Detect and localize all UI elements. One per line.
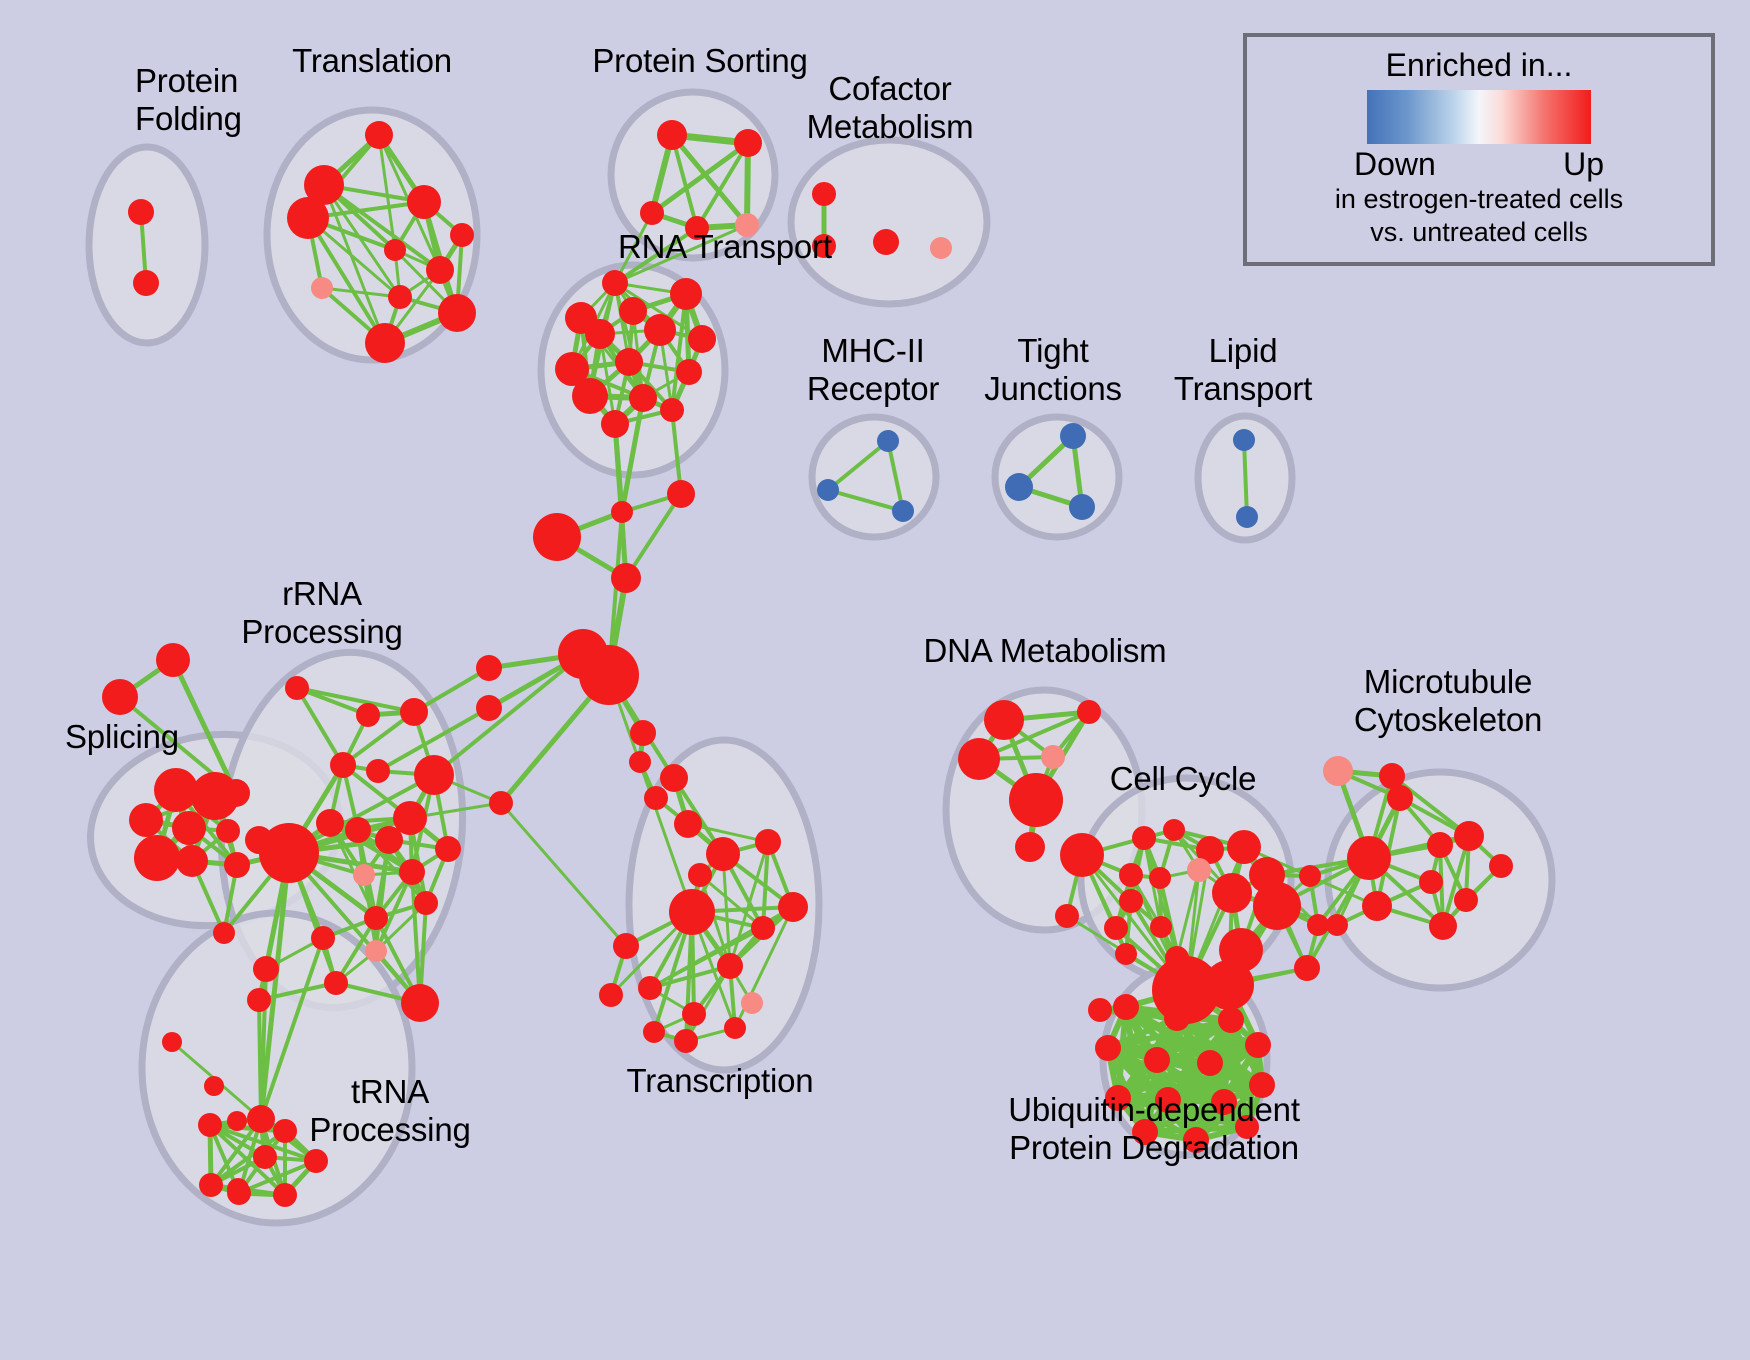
node-microtubule_cytoskeleton-6[interactable] <box>1419 870 1443 894</box>
node-bridge-b2[interactable] <box>533 513 581 561</box>
node-ubiquitin_protein_degradation-14[interactable] <box>1088 998 1112 1022</box>
node-cofactor_metabolism-2[interactable] <box>873 229 899 255</box>
node-cell_cycle-13[interactable] <box>1150 916 1172 938</box>
node-lipid_transport-1[interactable] <box>1236 506 1258 528</box>
node-protein_folding-1[interactable] <box>133 270 159 296</box>
node-rrna_processing-21[interactable] <box>401 984 439 1022</box>
node-cell_cycle-6[interactable] <box>1149 867 1171 889</box>
node-tight_junctions-2[interactable] <box>1069 494 1095 520</box>
node-rna_transport-0[interactable] <box>602 270 628 296</box>
node-cell_cycle-15[interactable] <box>1115 943 1137 965</box>
node-bridge-b0[interactable] <box>611 501 633 523</box>
node-mhcii_receptor-0[interactable] <box>877 430 899 452</box>
node-trna_processing-6[interactable] <box>273 1183 297 1207</box>
node-rrna_processing-4[interactable] <box>330 752 356 778</box>
node-microtubule_cytoskeleton-2[interactable] <box>1379 763 1405 789</box>
node-cell_cycle-21[interactable] <box>1307 914 1329 936</box>
node-rrna_processing-12[interactable] <box>435 836 461 862</box>
node-transcription-9[interactable] <box>682 1002 706 1026</box>
node-bridge-b1[interactable] <box>667 480 695 508</box>
node-transcription-15[interactable] <box>599 983 623 1007</box>
node-tight_junctions-0[interactable] <box>1060 423 1086 449</box>
node-microtubule_cytoskeleton-9[interactable] <box>1429 912 1457 940</box>
node-rna_transport-5[interactable] <box>644 314 676 346</box>
node-splicing-0[interactable] <box>156 643 190 677</box>
node-ubiquitin_protein_degradation-1[interactable] <box>1164 1005 1190 1031</box>
cluster-label-transcription: Transcription <box>627 1062 814 1100</box>
cluster-label-cofactor_metabolism: Cofactor Metabolism <box>807 70 974 146</box>
node-transcription-7[interactable] <box>638 976 662 1000</box>
node-splicing-7[interactable] <box>216 819 240 843</box>
node-cell_cycle-1[interactable] <box>1132 826 1156 850</box>
node-rna_transport-8[interactable] <box>615 348 643 376</box>
node-transcription-14[interactable] <box>741 992 763 1014</box>
node-translation-0[interactable] <box>365 121 393 149</box>
node-transcription-13[interactable] <box>674 1029 698 1053</box>
node-splicing-1[interactable] <box>102 679 138 715</box>
node-transcription-16[interactable] <box>643 1021 665 1043</box>
node-translation-8[interactable] <box>388 285 412 309</box>
legend-endpoints: Down Up <box>1354 146 1604 183</box>
node-dna_metabolism-5[interactable] <box>1015 832 1045 862</box>
legend-subtitle-line1: in estrogen-treated cells <box>1335 183 1623 216</box>
node-rna_transport-10[interactable] <box>572 378 608 414</box>
cluster-label-tight_junctions: Tight Junctions <box>984 332 1122 408</box>
node-tight_junctions-1[interactable] <box>1005 473 1033 501</box>
legend-high-label: Up <box>1563 146 1604 183</box>
node-protein_sorting-0[interactable] <box>657 120 687 150</box>
node-splicing-6[interactable] <box>172 811 206 845</box>
node-microtubule_cytoskeleton-10[interactable] <box>1489 854 1513 878</box>
node-trna_processing-1[interactable] <box>162 1032 182 1052</box>
cluster-label-rrna_processing: rRNA Processing <box>241 575 402 651</box>
node-translation-10[interactable] <box>365 323 405 363</box>
node-rrna_processing-19[interactable] <box>253 956 279 982</box>
cluster-label-mhcii_receptor: MHC-II Receptor <box>807 332 939 408</box>
cluster-label-dna_metabolism: DNA Metabolism <box>924 632 1167 670</box>
node-cell_cycle-2[interactable] <box>1163 819 1185 841</box>
node-ubiquitin_protein_degradation-2[interactable] <box>1218 1007 1244 1033</box>
node-cell_cycle-22[interactable] <box>1294 955 1320 981</box>
node-mhcii_receptor-2[interactable] <box>892 500 914 522</box>
node-cofactor_metabolism-3[interactable] <box>930 237 952 259</box>
node-translation-7[interactable] <box>311 277 333 299</box>
node-trna_processing-5[interactable] <box>227 1181 251 1205</box>
node-ubiquitin_protein_degradation-6[interactable] <box>1245 1032 1271 1058</box>
node-bridge-b7[interactable] <box>476 655 502 681</box>
cluster-label-ubiquitin_protein_degradation: Ubiquitin-dependent Protein Degradation <box>1008 1091 1300 1167</box>
node-translation-9[interactable] <box>438 294 476 332</box>
node-dna_metabolism-4[interactable] <box>1009 773 1063 827</box>
node-transcription-3[interactable] <box>706 837 740 871</box>
cluster-label-rna_transport: RNA Transport <box>618 228 832 266</box>
node-transcription-1[interactable] <box>674 810 702 838</box>
node-trna_processing-4[interactable] <box>227 1111 247 1131</box>
node-bridge-b6[interactable] <box>630 720 656 746</box>
node-splicing-9[interactable] <box>176 845 208 877</box>
node-cell_cycle-12[interactable] <box>1104 916 1128 940</box>
node-transcription-8[interactable] <box>717 953 743 979</box>
node-rrna_processing-8[interactable] <box>316 809 344 837</box>
node-trna_processing-8[interactable] <box>273 1119 297 1143</box>
node-rrna_processing-5[interactable] <box>414 755 454 795</box>
edge-bridge <box>434 654 583 775</box>
node-splicing-5[interactable] <box>129 803 163 837</box>
node-trna_processing-7[interactable] <box>198 1113 222 1137</box>
node-dna_metabolism-0[interactable] <box>984 700 1024 740</box>
node-rrna_processing-14[interactable] <box>399 859 425 885</box>
node-dna_metabolism-1[interactable] <box>1077 700 1101 724</box>
node-rrna_processing-17[interactable] <box>311 926 335 950</box>
node-rrna_processing-7[interactable] <box>259 823 319 883</box>
node-ubiquitin_protein_degradation-5[interactable] <box>1197 1050 1223 1076</box>
node-bridge-b9[interactable] <box>489 791 513 815</box>
node-transcription-11[interactable] <box>669 889 715 935</box>
cluster-label-protein_folding: Protein Folding <box>135 62 242 138</box>
legend-box: Enriched in... Down Up in estrogen-treat… <box>1243 33 1715 266</box>
node-ubiquitin_protein_degradation-4[interactable] <box>1144 1047 1170 1073</box>
node-rrna_processing-0[interactable] <box>285 676 309 700</box>
node-splicing-11[interactable] <box>213 922 235 944</box>
node-microtubule_cytoskeleton-11[interactable] <box>1326 914 1348 936</box>
node-translation-3[interactable] <box>287 197 329 239</box>
node-splicing-8[interactable] <box>134 835 180 881</box>
node-cell_cycle-5[interactable] <box>1119 863 1143 887</box>
node-transcription-2[interactable] <box>688 863 712 887</box>
node-cell_cycle-14[interactable] <box>1055 904 1079 928</box>
node-splicing-3[interactable] <box>154 768 198 812</box>
cluster-label-cell_cycle: Cell Cycle <box>1110 760 1257 798</box>
node-rna_transport-13[interactable] <box>601 410 629 438</box>
node-microtubule_cytoskeleton-8[interactable] <box>1454 888 1478 912</box>
cluster-label-microtubule_cytoskeleton: Microtubule Cytoskeleton <box>1354 663 1542 739</box>
node-cofactor_metabolism-0[interactable] <box>812 182 836 206</box>
cluster-label-translation: Translation <box>292 42 452 80</box>
node-bridge-b10[interactable] <box>629 751 651 773</box>
node-cell_cycle-4[interactable] <box>1227 830 1261 864</box>
node-trna_processing-3[interactable] <box>204 1076 224 1096</box>
node-rrna_processing-18[interactable] <box>365 940 387 962</box>
node-trna_processing-10[interactable] <box>304 1149 328 1173</box>
node-ubiquitin_protein_degradation-0[interactable] <box>1113 994 1139 1020</box>
node-rna_transport-3[interactable] <box>619 297 647 325</box>
node-cell_cycle-10[interactable] <box>1212 873 1252 913</box>
cluster-label-trna_processing: tRNA Processing <box>309 1073 470 1149</box>
node-rna_transport-1[interactable] <box>670 278 702 310</box>
cluster-ellipse-protein_folding <box>89 147 205 343</box>
enrichment-network-figure: Protein FoldingTranslationProtein Sortin… <box>0 0 1750 1360</box>
node-transcription-6[interactable] <box>778 892 808 922</box>
node-ubiquitin_protein_degradation-3[interactable] <box>1095 1035 1121 1061</box>
legend-title: Enriched in... <box>1386 47 1573 84</box>
node-microtubule_cytoskeleton-4[interactable] <box>1427 832 1453 858</box>
node-mhcii_receptor-1[interactable] <box>817 479 839 501</box>
node-trna_processing-11[interactable] <box>253 1145 277 1169</box>
node-splicing-10[interactable] <box>224 852 250 878</box>
node-microtubule_cytoskeleton-7[interactable] <box>1362 891 1392 921</box>
node-protein_sorting-1[interactable] <box>734 129 762 157</box>
cluster-label-lipid_transport: Lipid Transport <box>1174 332 1312 408</box>
node-transcription-5[interactable] <box>751 916 775 940</box>
node-microtubule_cytoskeleton-0[interactable] <box>1323 756 1353 786</box>
node-rrna_processing-11[interactable] <box>393 801 427 835</box>
node-bridge-b11[interactable] <box>644 786 668 810</box>
node-microtubule_cytoskeleton-3[interactable] <box>1347 836 1391 880</box>
node-protein_folding-0[interactable] <box>128 199 154 225</box>
cluster-ellipse-mhcii_receptor <box>812 417 936 537</box>
node-rrna_processing-9[interactable] <box>345 817 371 843</box>
node-splicing-4[interactable] <box>191 772 239 820</box>
node-trna_processing-0[interactable] <box>247 1105 275 1133</box>
node-transcription-10[interactable] <box>724 1017 746 1039</box>
node-lipid_transport-0[interactable] <box>1233 429 1255 451</box>
node-cell_cycle-19[interactable] <box>1204 960 1254 1010</box>
node-cell_cycle-0[interactable] <box>1060 833 1104 877</box>
node-rna_transport-6[interactable] <box>688 325 716 353</box>
node-cell_cycle-9[interactable] <box>1119 889 1143 913</box>
node-rrna_processing-15[interactable] <box>414 891 438 915</box>
node-dna_metabolism-2[interactable] <box>958 738 1000 780</box>
node-rrna_processing-16[interactable] <box>364 906 388 930</box>
node-transcription-0[interactable] <box>660 764 688 792</box>
node-cell_cycle-20[interactable] <box>1299 865 1321 887</box>
node-protein_sorting-2[interactable] <box>640 201 664 225</box>
node-trna_processing-9[interactable] <box>199 1173 223 1197</box>
node-rrna_processing-22[interactable] <box>247 988 271 1012</box>
cluster-label-protein_sorting: Protein Sorting <box>592 42 807 80</box>
node-rrna_processing-3[interactable] <box>366 759 390 783</box>
edge-bridge <box>501 803 626 946</box>
node-microtubule_cytoskeleton-5[interactable] <box>1454 821 1484 851</box>
legend-low-label: Down <box>1354 146 1436 183</box>
node-translation-6[interactable] <box>426 256 454 284</box>
legend-color-bar <box>1367 90 1591 144</box>
node-rna_transport-11[interactable] <box>629 384 657 412</box>
node-cell_cycle-11[interactable] <box>1253 882 1301 930</box>
node-rna_transport-12[interactable] <box>660 398 684 422</box>
node-rrna_processing-1[interactable] <box>356 703 380 727</box>
node-translation-2[interactable] <box>407 185 441 219</box>
legend-subtitle-line2: vs. untreated cells <box>1370 216 1588 249</box>
cluster-ellipse-cofactor_metabolism <box>791 140 987 304</box>
node-rrna_processing-13[interactable] <box>353 864 375 886</box>
edge-bridge <box>259 1000 261 1119</box>
node-bridge-b5[interactable] <box>579 645 639 705</box>
node-rrna_processing-2[interactable] <box>400 698 428 726</box>
node-transcription-4[interactable] <box>755 829 781 855</box>
node-dna_metabolism-3[interactable] <box>1041 745 1065 769</box>
node-rna_transport-4[interactable] <box>585 319 615 349</box>
cluster-label-splicing: Splicing <box>65 718 179 756</box>
node-rrna_processing-20[interactable] <box>324 971 348 995</box>
node-rna_transport-9[interactable] <box>676 359 702 385</box>
node-bridge-b8[interactable] <box>476 695 502 721</box>
node-translation-4[interactable] <box>450 223 474 247</box>
node-translation-5[interactable] <box>384 239 406 261</box>
node-transcription-12[interactable] <box>613 933 639 959</box>
node-bridge-b3[interactable] <box>611 563 641 593</box>
node-cell_cycle-7[interactable] <box>1187 858 1211 882</box>
